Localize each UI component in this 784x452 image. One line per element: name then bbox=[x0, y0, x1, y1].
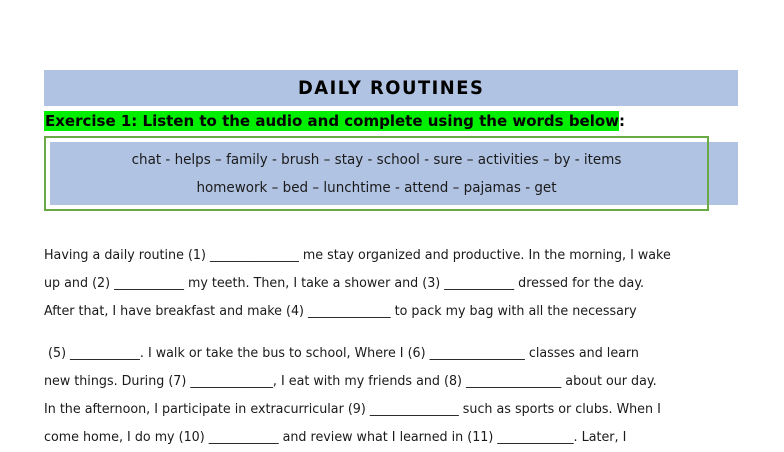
word-bank-row-1: chat - helps – family - brush – stay - s… bbox=[132, 151, 622, 169]
passage-line: Having a daily routine (1) _____________… bbox=[44, 242, 713, 270]
passage-line: come home, I do my (10) ___________ and … bbox=[44, 424, 713, 452]
word-bank: chat - helps – family - brush – stay - s… bbox=[67, 136, 685, 211]
exercise-instruction-highlighted: Exercise 1: Listen to the audio and comp… bbox=[44, 111, 619, 131]
passage-line: After that, I have breakfast and make (4… bbox=[44, 298, 713, 326]
passage-line: (5) ___________. I walk or take the bus … bbox=[44, 340, 713, 368]
word-bank-row-2: homework – bed – lunchtime - attend – pa… bbox=[196, 179, 556, 197]
page-title: DAILY ROUTINES bbox=[298, 79, 484, 98]
passage-line: new things. During (7) _____________, I … bbox=[44, 368, 713, 396]
passage-line: In the afternoon, I participate in extra… bbox=[44, 396, 713, 424]
exercise-instruction: Exercise 1: Listen to the audio and comp… bbox=[44, 110, 625, 132]
passage-line: up and (2) ___________ my teeth. Then, I… bbox=[44, 270, 713, 298]
worksheet-page: DAILY ROUTINES Exercise 1: Listen to the… bbox=[0, 0, 784, 441]
title-banner: DAILY ROUTINES bbox=[44, 70, 738, 106]
exercise-instruction-colon: : bbox=[619, 112, 625, 130]
passage: Having a daily routine (1) _____________… bbox=[44, 242, 744, 452]
